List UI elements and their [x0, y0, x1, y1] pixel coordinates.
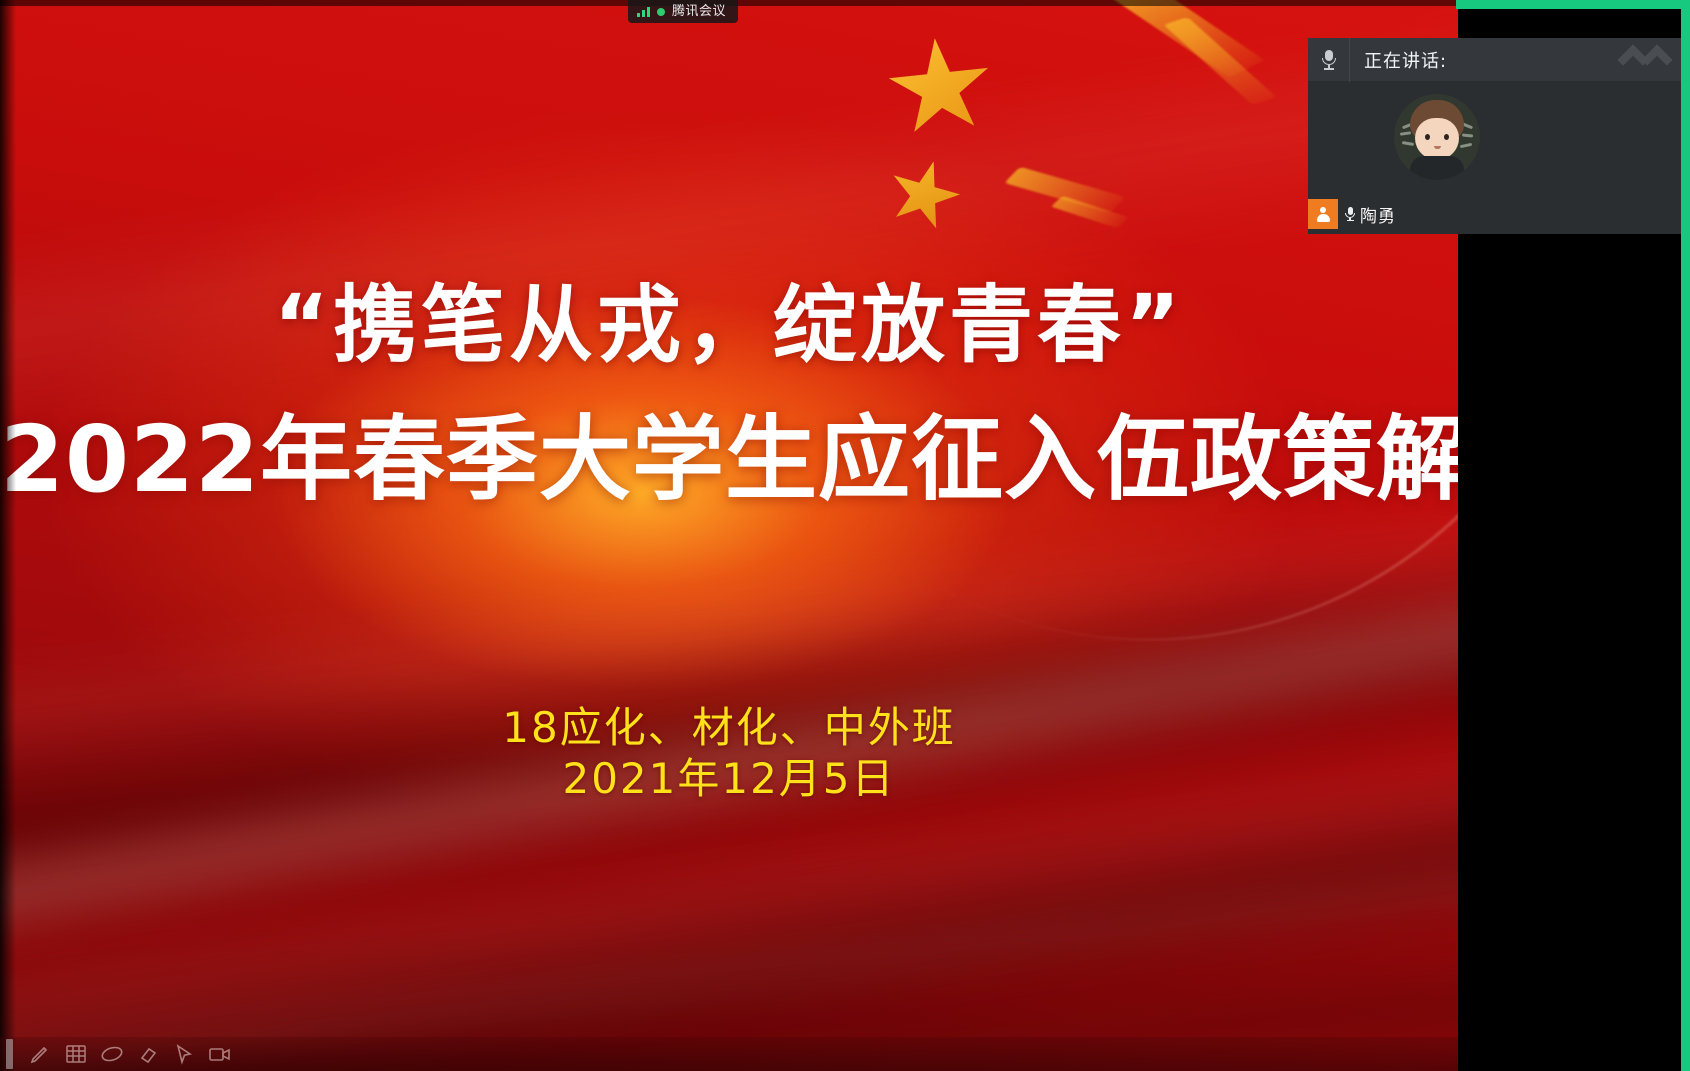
collapse-panel-button[interactable] — [1622, 49, 1690, 71]
signal-bars-icon — [637, 6, 650, 17]
pen-icon[interactable] — [25, 1040, 55, 1068]
slide-subtitle-date: 2021年12月5日 — [0, 745, 1458, 806]
microphone-icon — [1344, 207, 1356, 222]
participant-name-label: 陶勇 — [1360, 202, 1396, 227]
slide-title-line1: “携笔从戎，绽放青春” — [0, 258, 1458, 379]
participant-name-badge: 陶勇 — [1308, 199, 1405, 229]
chevron-up-icon — [1641, 44, 1672, 75]
slide-title-line2: 2022年春季大学生应征入伍政策解读主题班会 — [0, 385, 1458, 518]
tencent-meeting-indicator[interactable]: 腾讯会议 — [628, 0, 738, 23]
screen-share-border-top — [1456, 0, 1690, 9]
person-badge — [1308, 199, 1338, 229]
screen-share-border-right — [1681, 0, 1690, 1071]
person-icon — [1316, 206, 1331, 222]
eraser-icon[interactable] — [133, 1040, 163, 1068]
video-icon[interactable] — [205, 1040, 235, 1068]
annotation-toolbar[interactable] — [0, 1037, 1458, 1071]
microphone-icon — [1321, 50, 1337, 70]
slide-text-block: “携笔从戎，绽放青春” 2022年春季大学生应征入伍政策解读主题班会 18应化、… — [0, 0, 1458, 1071]
meeting-screen-share-window: “携笔从戎，绽放青春” 2022年春季大学生应征入伍政策解读主题班会 18应化、… — [0, 0, 1690, 1071]
pointer-icon[interactable] — [169, 1040, 199, 1068]
highlighter-icon[interactable] — [97, 1040, 127, 1068]
shared-slide: “携笔从戎，绽放青春” 2022年春季大学生应征入伍政策解读主题班会 18应化、… — [0, 0, 1458, 1071]
speaker-panel-header[interactable]: 正在讲话: — [1308, 38, 1690, 82]
calendar-icon[interactable] — [61, 1040, 91, 1068]
avatar — [1394, 94, 1480, 180]
recording-status-dot-icon — [657, 8, 665, 16]
app-name-label: 腾讯会议 — [672, 5, 726, 18]
mic-icon-cell[interactable] — [1308, 38, 1350, 82]
participant-name-box: 陶勇 — [1338, 199, 1405, 229]
slide-left-shadow — [0, 0, 16, 1071]
toolbar-drag-handle[interactable] — [6, 1039, 13, 1069]
speaking-now-label: 正在讲话: — [1350, 47, 1622, 73]
